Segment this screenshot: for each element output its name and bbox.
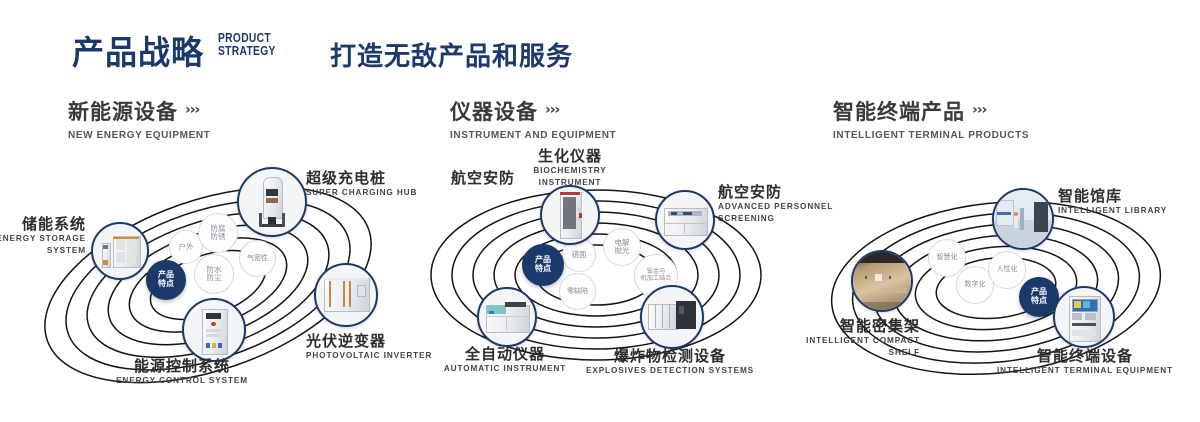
automatic-instrument-photo: [479, 289, 535, 345]
section-title-new-energy: 新能源设备››› NEW ENERGY EQUIPMENT: [68, 96, 210, 141]
feature-bubble-line2: 防尘: [207, 274, 222, 282]
center-bubble-product-features: 产品 特点: [522, 244, 564, 286]
node-energy-control-system[interactable]: [182, 298, 246, 362]
node-label-cn: 全自动仪器: [420, 346, 590, 363]
chevron-right-icon: ›››: [185, 102, 199, 118]
feature-bubble-text: 智慧化: [937, 254, 958, 262]
page-slogan: 打造无敌产品和服务: [330, 36, 573, 73]
diagram-instrument: 镜面 电解 抛光 零缺陷 钣金与 机加工结合 产品 特点 航空安防: [400, 150, 810, 420]
biochemistry-instrument-photo: [542, 187, 598, 243]
photovoltaic-inverter-photo: [316, 265, 376, 325]
diagram-new-energy: 户外 防腐 防锈 防水 防尘 气密性 产品 特点: [0, 150, 410, 420]
feature-bubble-airtight: 气密性: [239, 240, 276, 277]
node-intelligent-library[interactable]: [992, 188, 1054, 250]
node-label-en-line1: BIOCHEMISTRY: [516, 166, 624, 177]
energy-control-system-photo: [184, 300, 244, 360]
feature-bubble-zero-defect: 零缺陷: [559, 273, 596, 310]
node-label-en-line1: INTELLIGENT TERMINAL EQUIPMENT: [985, 366, 1185, 377]
section-title-cn: 智能终端产品: [833, 96, 965, 126]
feature-bubble-line2: 抛光: [615, 247, 630, 255]
feature-bubble-waterproof: 防水 防尘: [194, 254, 234, 294]
node-biochemistry-instrument[interactable]: [540, 185, 600, 245]
node-label-cn: 智能终端设备: [985, 348, 1185, 365]
node-label-cn: 智能密集架: [780, 318, 920, 335]
feature-bubble-text: 数字化: [965, 281, 986, 289]
diagram-intelligent-terminal: 智慧化 数字化 人性化 产品 特点 智能馆库 INTELLIG: [800, 150, 1200, 420]
chevron-right-icon: ›››: [545, 102, 559, 118]
feature-bubble-text: 人性化: [997, 266, 1018, 274]
node-intelligent-compact-shelf[interactable]: [851, 250, 913, 312]
node-label-intelligent-compact-shelf: 智能密集架 INTELLIGENT COMPACT SHELF: [780, 318, 920, 358]
section-title-cn: 仪器设备: [450, 96, 538, 126]
node-label-intelligent-terminal-equipment: 智能终端设备 INTELLIGENT TERMINAL EQUIPMENT: [985, 348, 1185, 377]
center-bubble-line2: 特点: [1031, 297, 1047, 306]
node-automatic-instrument[interactable]: [477, 287, 537, 347]
page-title-english-line2: STRATEGY: [218, 45, 276, 58]
node-label-en-line1: EXPLOSIVES DETECTION SYSTEMS: [580, 366, 760, 377]
node-label-en-line1: ENERGY STORAGE: [0, 234, 86, 245]
energy-storage-photo: [93, 224, 147, 278]
node-energy-storage-system[interactable]: [91, 222, 149, 280]
feature-bubble-text: 户外: [179, 243, 194, 251]
center-bubble-line2: 特点: [535, 265, 551, 274]
page-title: 产品战略: [72, 26, 204, 74]
feature-bubble-electropolish: 电解 抛光: [603, 228, 641, 266]
intelligent-compact-shelf-photo: [853, 252, 911, 310]
section-title-en: NEW ENERGY EQUIPMENT: [68, 130, 210, 141]
node-explosives-detection[interactable]: [640, 285, 704, 349]
node-label-explosives-detection: 爆炸物检测设备 EXPLOSIVES DETECTION SYSTEMS: [580, 348, 760, 377]
node-label-en-line1: ENERGY CONTROL SYSTEM: [82, 376, 282, 387]
node-label-energy-control-system: 能源控制系统 ENERGY CONTROL SYSTEM: [82, 358, 282, 387]
node-label-en-line1: AUTOMATIC INSTRUMENT: [420, 364, 590, 375]
node-advanced-personnel-screening[interactable]: [655, 190, 715, 250]
feature-bubble-line2: 防锈: [211, 233, 226, 241]
page-title-english: PRODUCT STRATEGY: [218, 32, 276, 58]
advanced-personnel-screening-photo: [657, 192, 713, 248]
section-title-intelligent-terminal: 智能终端产品››› INTELLIGENT TERMINAL PRODUCTS: [833, 96, 1029, 141]
node-label-aviation-security-left: 航空安防: [400, 170, 515, 187]
node-label-automatic-instrument: 全自动仪器 AUTOMATIC INSTRUMENT: [420, 346, 590, 375]
feature-bubble-text: 零缺陷: [567, 288, 588, 296]
super-charging-hub-photo: [239, 169, 305, 235]
center-bubble-product-features: 产品 特点: [146, 260, 186, 300]
section-title-en: INSTRUMENT AND EQUIPMENT: [450, 130, 616, 141]
feature-bubble-human-centric: 人性化: [988, 251, 1026, 289]
intelligent-terminal-equipment-photo: [1055, 288, 1113, 346]
section-title-en: INTELLIGENT TERMINAL PRODUCTS: [833, 130, 1029, 141]
node-intelligent-terminal-equipment[interactable]: [1053, 286, 1115, 348]
node-super-charging-hub[interactable]: [237, 167, 307, 237]
node-label-cn: 储能系统: [0, 216, 86, 233]
feature-bubble-text: 镜面: [572, 251, 587, 259]
node-label-cn: 生化仪器: [516, 148, 624, 165]
section-title-cn: 新能源设备: [68, 96, 178, 126]
product-strategy-infographic: 产品战略 PRODUCT STRATEGY 打造无敌产品和服务 新能源设备›››…: [0, 0, 1200, 422]
node-label-cn: 爆炸物检测设备: [580, 348, 760, 365]
page-header: 产品战略 PRODUCT STRATEGY 打造无敌产品和服务: [0, 0, 1200, 86]
chevron-right-icon: ›››: [972, 102, 986, 118]
node-label-en-line1: INTELLIGENT COMPACT: [780, 336, 920, 347]
node-label-cn: 航空安防: [400, 170, 515, 187]
node-label-en-line2: SYSTEM: [0, 246, 86, 257]
node-label-cn: 智能馆库: [1058, 188, 1167, 205]
node-label-energy-storage-system: 储能系统 ENERGY STORAGE SYSTEM: [0, 216, 86, 256]
node-label-intelligent-library: 智能馆库 INTELLIGENT LIBRARY: [1058, 188, 1167, 217]
node-label-en-line2: INSTRUMENT: [516, 178, 624, 189]
intelligent-library-photo: [994, 190, 1052, 248]
feature-bubble-anti-rust: 防腐 防锈: [198, 213, 238, 253]
node-label-biochemistry-instrument: 生化仪器 BIOCHEMISTRY INSTRUMENT: [516, 148, 624, 188]
node-photovoltaic-inverter[interactable]: [314, 263, 378, 327]
center-bubble-line2: 特点: [158, 280, 174, 289]
section-title-instrument: 仪器设备››› INSTRUMENT AND EQUIPMENT: [450, 96, 616, 141]
feature-bubble-line2: 机加工结合: [641, 276, 672, 283]
node-label-cn: 能源控制系统: [82, 358, 282, 375]
node-label-en-line2: SHELF: [780, 348, 920, 359]
feature-bubble-text: 气密性: [247, 255, 268, 263]
explosives-detection-photo: [642, 287, 702, 347]
node-label-en-line1: INTELLIGENT LIBRARY: [1058, 206, 1167, 217]
